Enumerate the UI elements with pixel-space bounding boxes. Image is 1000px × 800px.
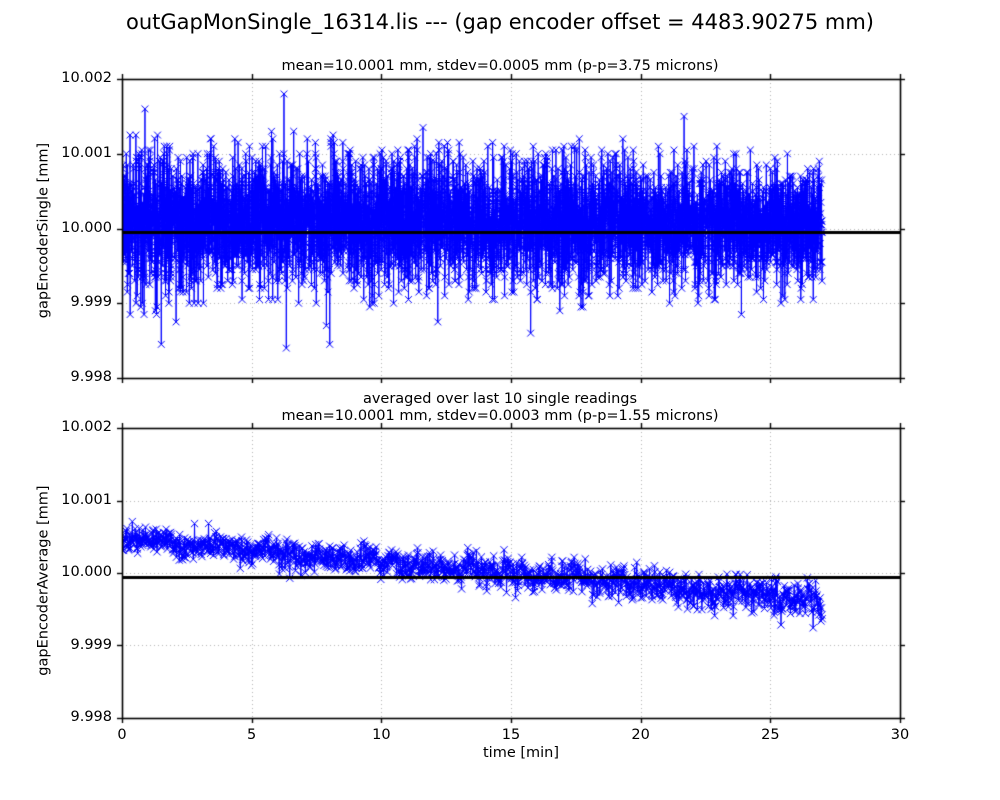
plot-canvas <box>0 0 1000 800</box>
figure-canvas-container: outGapMonSingle_16314.lis --- (gap encod… <box>0 0 1000 800</box>
